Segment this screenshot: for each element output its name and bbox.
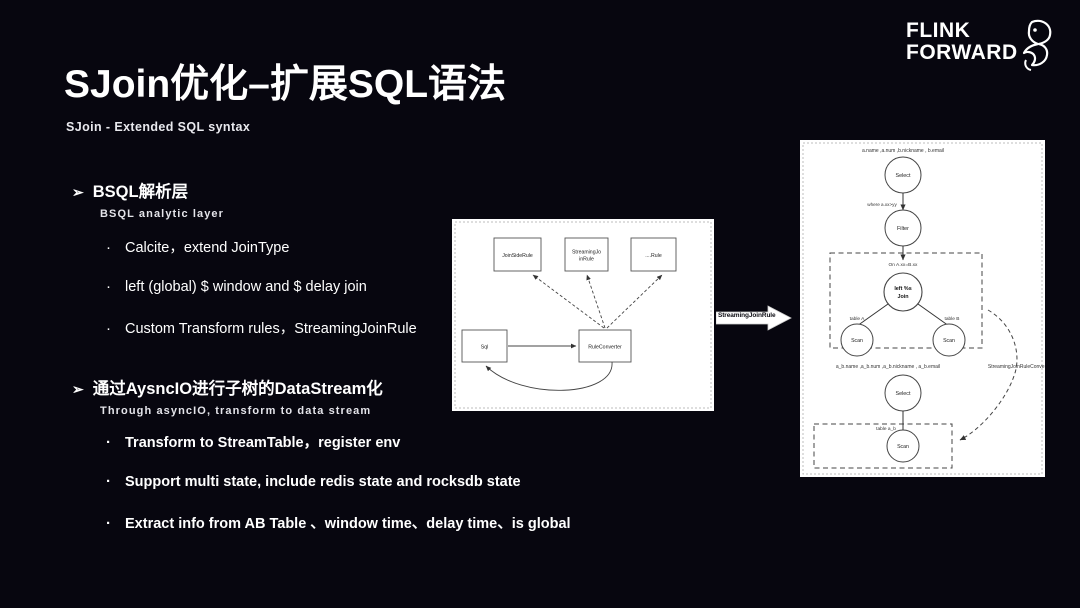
logo-text: FLINK FORWARD <box>906 20 1018 64</box>
node-label-line1: left %s <box>894 286 911 292</box>
diagram-panel-rules: JoinSideRule StreamingJo inRule ....Rule… <box>452 219 714 411</box>
diagram-panel-plan: a.name ,a.num ,b.nickname , b.email Sele… <box>800 140 1045 477</box>
node-streaming-join-rule: StreamingJo inRule <box>565 238 608 271</box>
panel-border <box>803 143 1042 474</box>
table-b-label: table B <box>945 316 960 322</box>
list-item: · Calcite，extend JoinType <box>106 236 417 257</box>
group-heading-label: BSQL解析层 <box>93 178 188 202</box>
node-scan-a: Scan <box>841 324 873 356</box>
node-rule-converter: RuleConverter <box>579 330 631 362</box>
node-label-line2: inRule <box>579 257 594 263</box>
dot-bullet-icon: · <box>106 321 111 336</box>
list-item-label: Transform to StreamTable，register env <box>125 431 400 452</box>
list-item: · Extract info from AB Table 、window tim… <box>106 512 571 533</box>
dot-bullet-icon: · <box>106 435 111 450</box>
node-scan-b: Scan <box>933 324 965 356</box>
on-condition-label: On A.xx=B.xx <box>889 262 919 268</box>
table-ab-label: table a_b <box>876 426 896 432</box>
node-select-bottom: Select <box>885 375 921 411</box>
arrow-bullet-icon: ➢ <box>72 382 84 396</box>
dot-bullet-icon: · <box>106 279 111 294</box>
list-item-label: left (global) $ window and $ delay join <box>125 279 367 295</box>
node-label: Select <box>896 173 911 179</box>
node-label: Select <box>896 391 911 397</box>
group-heading: ➢ BSQL解析层 <box>72 178 417 202</box>
group-items: · Calcite，extend JoinType · left (global… <box>106 236 417 338</box>
list-item: · Transform to StreamTable，register env <box>106 431 571 452</box>
edge-converter-transform <box>960 310 1017 440</box>
logo-line-1: FLINK <box>906 20 1018 42</box>
node-other-rule: ....Rule <box>631 238 676 271</box>
list-item-label: Extract info from AB Table 、window time、… <box>125 512 571 533</box>
group-heading-sub: BSQL analytic layer <box>100 208 417 220</box>
list-item-label: Support multi state, include redis state… <box>125 474 521 490</box>
node-label-line2: Join <box>897 294 908 300</box>
list-item-label: Custom Transform rules，StreamingJoinRule <box>125 317 417 338</box>
node-label: Filter <box>897 226 909 232</box>
rule-edges <box>533 275 662 328</box>
list-item: · left (global) $ window and $ delay joi… <box>106 279 417 295</box>
node-label: JoinSideRule <box>502 253 533 259</box>
arrow-bullet-icon: ➢ <box>72 185 84 199</box>
group-heading-label: 通过AysncIO进行子树的DataStream化 <box>93 375 383 399</box>
page-title: SJoin优化–扩展SQL语法 <box>64 62 506 108</box>
squirrel-icon <box>1002 16 1054 72</box>
table-a-label: table A <box>850 316 865 322</box>
projection-label-bottom: a_b.name ,a_b.num ,a_b.nickname , a_b.em… <box>836 364 940 370</box>
list-item: · Support multi state, include redis sta… <box>106 474 571 490</box>
edge-join-scan-b <box>918 304 949 326</box>
node-label: ....Rule <box>645 253 662 259</box>
node-label: Sql <box>481 345 489 351</box>
list-item-label: Calcite，extend JoinType <box>125 236 289 257</box>
dot-bullet-icon: · <box>106 240 111 255</box>
node-label-line1: StreamingJo <box>572 250 601 256</box>
group-items: · Transform to StreamTable，register env … <box>106 431 571 533</box>
node-scan-ab: Scan <box>887 430 919 462</box>
node-join: left %s Join <box>884 273 922 311</box>
edge-converter-to-sql <box>486 362 612 390</box>
node-join-side-rule: JoinSideRule <box>494 238 541 271</box>
node-filter: Filter <box>885 210 921 246</box>
where-label: where a.xx>yy <box>867 202 897 207</box>
slide-root: FLINK FORWARD SJoin优化–扩展SQL语法 SJoin - Ex… <box>0 0 1080 608</box>
transition-arrow-label: StreamingJoinRule <box>718 312 776 319</box>
flink-forward-logo: FLINK FORWARD <box>906 14 1056 74</box>
dot-bullet-icon: · <box>106 474 111 489</box>
node-select-top: Select <box>885 157 921 193</box>
rules-diagram: JoinSideRule StreamingJo inRule ....Rule… <box>452 219 714 411</box>
node-label: Scan <box>897 444 909 450</box>
page-subtitle: SJoin - Extended SQL syntax <box>66 120 250 134</box>
logo-line-2: FORWARD <box>906 42 1018 64</box>
dot-bullet-icon: · <box>106 516 111 531</box>
bullet-group-bsql: ➢ BSQL解析层 BSQL analytic layer · Calcite，… <box>72 178 417 360</box>
plan-diagram: a.name ,a.num ,b.nickname , b.email Sele… <box>800 140 1045 477</box>
list-item: · Custom Transform rules，StreamingJoinRu… <box>106 317 417 338</box>
node-label: RuleConverter <box>588 345 622 351</box>
node-sql: Sql <box>462 330 507 362</box>
edge-join-scan-a <box>857 304 888 326</box>
node-label: Scan <box>943 338 955 344</box>
node-label: Scan <box>851 338 863 344</box>
projection-label-top: a.name ,a.num ,b.nickname , b.email <box>862 148 944 154</box>
